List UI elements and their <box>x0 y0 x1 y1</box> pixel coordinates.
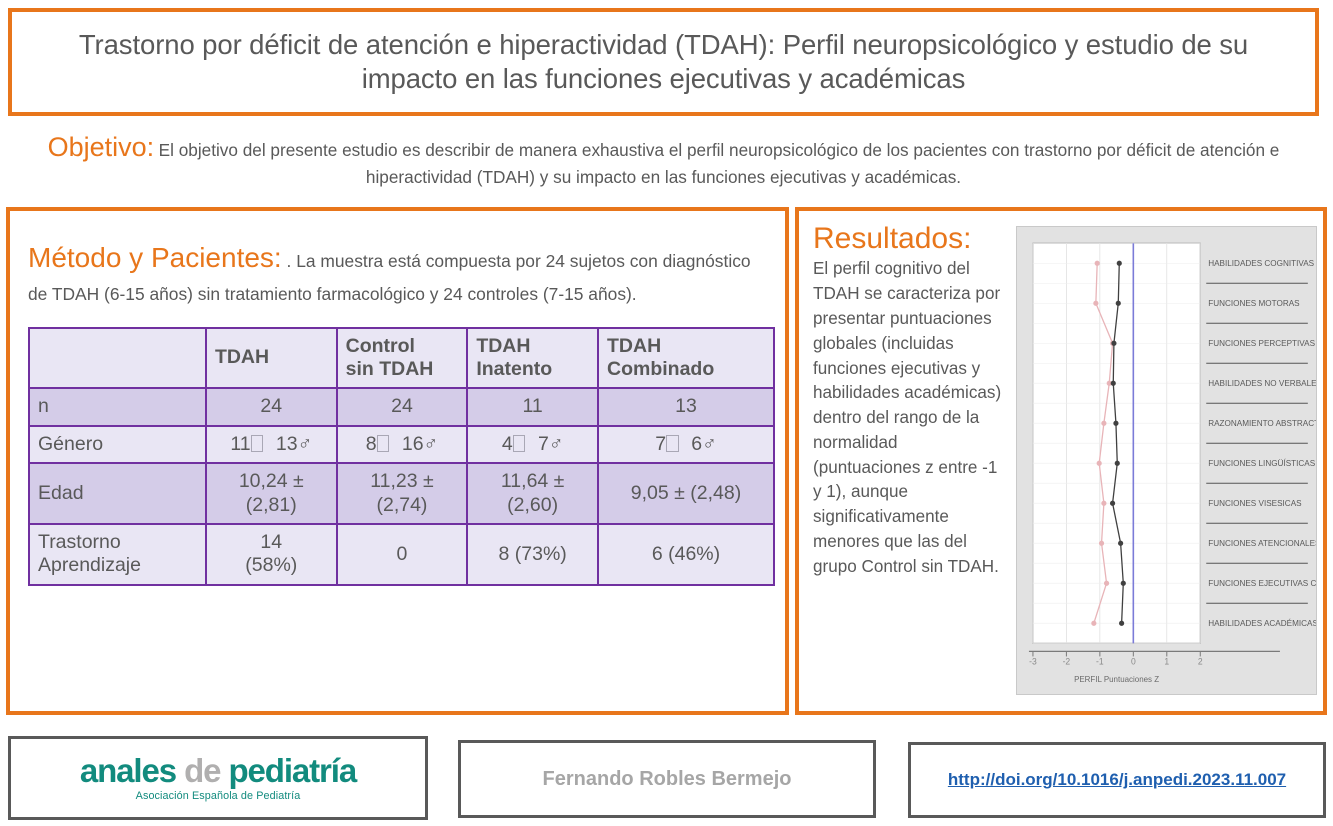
row-value: 11,23 ± (2,74) <box>337 463 468 524</box>
data-point <box>1099 541 1104 546</box>
value-line: 11,23 ± <box>346 470 459 493</box>
label-line: Trastorno <box>38 531 197 554</box>
data-point <box>1119 541 1124 546</box>
metodo-label: Método y Pacientes: <box>28 242 282 273</box>
category-label: HABILIDADES COGNITIVAS GENERALES <box>1208 259 1316 268</box>
table-header-cell-control: Control sin TDAH <box>337 328 468 389</box>
male-symbol-icon: ♂ <box>549 433 564 455</box>
x-axis-tick-label: -1 <box>1096 656 1104 666</box>
female-symbol-icon <box>251 435 263 452</box>
metodo-paragraph: Método y Pacientes: . La muestra está co… <box>28 235 767 309</box>
table-header-cell-tdah: TDAH <box>206 328 337 389</box>
data-point <box>1116 301 1121 306</box>
journal-logo-wordmark: anales de pediatría <box>80 754 356 787</box>
row-value: 11 <box>467 388 598 425</box>
poster-title: Trastorno por déficit de atención e hipe… <box>12 28 1315 95</box>
data-point <box>1120 621 1125 626</box>
category-label: FUNCIONES EJECUTIVAS COGNITIVAS <box>1208 579 1316 588</box>
row-value: 24 <box>206 388 337 425</box>
male-symbol-icon: ♂ <box>298 433 313 455</box>
x-axis-tick-label: 1 <box>1165 656 1170 666</box>
data-point <box>1102 501 1107 506</box>
category-label: HABILIDADES ACADÉMICAS <box>1208 618 1316 628</box>
value-line: 6 (46%) <box>607 543 765 566</box>
value-line: 0 <box>346 543 459 566</box>
data-point <box>1121 581 1126 586</box>
value-line: (58%) <box>215 554 328 577</box>
female-symbol-icon <box>377 435 389 452</box>
header-line: Combinado <box>607 358 765 381</box>
label-line: Aprendizaje <box>38 554 197 577</box>
logo-word-anales: anales <box>80 752 176 789</box>
data-point <box>1111 381 1116 386</box>
objetivo-label: Objetivo: <box>48 132 155 162</box>
table-header-cell-combinado: TDAH Combinado <box>598 328 774 389</box>
row-label: n <box>29 388 206 425</box>
x-axis-tick-label: -3 <box>1029 656 1037 666</box>
table-row: Género 11 13♂ 8 16♂ 4 7♂ 7 6♂ <box>29 426 774 463</box>
patients-table: TDAH Control sin TDAH TDAH Inatento TDAH… <box>28 327 775 586</box>
row-value: 8 (73%) <box>467 524 598 585</box>
data-point <box>1114 421 1119 426</box>
female-count: 7 <box>655 433 666 455</box>
row-value: 6 (46%) <box>598 524 774 585</box>
logo-word-de: de <box>184 752 220 789</box>
category-label: FUNCIONES PERCEPTIVAS <box>1208 339 1315 348</box>
header-line: TDAH <box>607 335 765 358</box>
data-point <box>1102 421 1107 426</box>
category-label: FUNCIONES VISESICAS <box>1208 499 1302 508</box>
header-line: Control <box>346 335 459 358</box>
row-value: 10,24 ± (2,81) <box>206 463 337 524</box>
data-point <box>1094 301 1099 306</box>
data-point <box>1095 261 1100 266</box>
x-axis-tick-label: -2 <box>1063 656 1071 666</box>
logo-word-pediatria: pediatría <box>228 752 356 789</box>
row-value: 13 <box>598 388 774 425</box>
header-line: sin TDAH <box>346 358 459 381</box>
value-line: (2,60) <box>476 494 589 517</box>
row-value: 9,05 ± (2,48) <box>598 463 774 524</box>
table-header-cell-blank <box>29 328 206 389</box>
row-label: Trastorno Aprendizaje <box>29 524 206 585</box>
header-line: Inatento <box>476 358 589 381</box>
category-label: FUNCIONES ATENCIONALES <box>1208 539 1316 548</box>
resultados-text-column: Resultados: El perfil cognitivo del TDAH… <box>799 211 1016 711</box>
category-label: FUNCIONES LINGÜÍSTICAS <box>1208 458 1315 468</box>
data-point <box>1112 341 1117 346</box>
table-header-cell-inatento: TDAH Inatento <box>467 328 598 389</box>
row-label: Edad <box>29 463 206 524</box>
value-line: 14 <box>215 531 328 554</box>
row-value-gender: 11 13♂ <box>206 426 337 463</box>
table-row: Edad 10,24 ± (2,81) 11,23 ± (2,74) 11,64… <box>29 463 774 524</box>
resultados-section: Resultados: El perfil cognitivo del TDAH… <box>795 207 1327 715</box>
data-point <box>1110 501 1115 506</box>
female-count: 8 <box>366 433 377 455</box>
journal-logo: anales de pediatría Asociación Española … <box>80 754 356 802</box>
row-value-gender: 7 6♂ <box>598 426 774 463</box>
author-name: Fernando Robles Bermejo <box>543 768 792 791</box>
male-symbol-icon: ♂ <box>702 433 717 455</box>
table-header-row: TDAH Control sin TDAH TDAH Inatento TDAH… <box>29 328 774 389</box>
female-symbol-icon <box>666 435 678 452</box>
header-line: TDAH <box>215 346 328 369</box>
female-symbol-icon <box>513 435 525 452</box>
x-axis-tick-label: 2 <box>1198 656 1203 666</box>
header-line: TDAH <box>476 335 589 358</box>
female-count: 11 <box>230 433 250 455</box>
row-value-gender: 4 7♂ <box>467 426 598 463</box>
value-line: (2,74) <box>346 494 459 517</box>
doi-link[interactable]: http://doi.org/10.1016/j.anpedi.2023.11.… <box>948 770 1286 790</box>
data-point <box>1092 621 1097 626</box>
male-count: 7 <box>538 433 549 455</box>
data-point <box>1117 261 1122 266</box>
data-point <box>1115 461 1120 466</box>
category-label: HABILIDADES NO VERBALES <box>1208 379 1316 388</box>
row-value: 11,64 ± (2,60) <box>467 463 598 524</box>
table-row: n 24 24 11 13 <box>29 388 774 425</box>
category-label: RAZONAMIENTO ABSTRACTO <box>1208 419 1316 428</box>
row-label: Género <box>29 426 206 463</box>
male-symbol-icon: ♂ <box>424 433 439 455</box>
objetivo-text: El objetivo del presente estudio es desc… <box>159 140 1280 187</box>
resultados-label: Resultados: <box>813 223 1008 255</box>
row-value: 24 <box>337 388 468 425</box>
row-value: 0 <box>337 524 468 585</box>
male-count: 6 <box>691 433 702 455</box>
metodo-section: Método y Pacientes: . La muestra está co… <box>6 207 789 715</box>
profile-chart-panel: -3-2-1012PERFIL Puntuaciones ZHABILIDADE… <box>1016 226 1317 695</box>
row-value: 14 (58%) <box>206 524 337 585</box>
x-axis-label: PERFIL Puntuaciones Z <box>1074 675 1159 684</box>
row-value-gender: 8 16♂ <box>337 426 468 463</box>
poster-title-box: Trastorno por déficit de atención e hipe… <box>8 8 1319 116</box>
value-line: 11,64 ± <box>476 470 589 493</box>
data-point <box>1104 581 1109 586</box>
table-row: Trastorno Aprendizaje 14 (58%) 0 8 (73%)… <box>29 524 774 585</box>
profile-chart: -3-2-1012PERFIL Puntuaciones ZHABILIDADE… <box>1017 227 1316 694</box>
journal-logo-subtitle: Asociación Española de Pediatría <box>80 791 356 802</box>
data-point <box>1097 461 1102 466</box>
value-line: 10,24 ± <box>215 470 328 493</box>
male-count: 16 <box>402 433 424 455</box>
value-line: 9,05 ± (2,48) <box>607 482 765 505</box>
objetivo-section: Objetivo: El objetivo del presente estud… <box>8 132 1319 200</box>
journal-logo-box: anales de pediatría Asociación Española … <box>8 736 428 820</box>
category-label: FUNCIONES MOTORAS <box>1208 299 1300 308</box>
doi-box: http://doi.org/10.1016/j.anpedi.2023.11.… <box>908 742 1326 818</box>
male-count: 13 <box>276 433 298 455</box>
author-box: Fernando Robles Bermejo <box>458 740 876 818</box>
resultados-text: El perfil cognitivo del TDAH se caracter… <box>813 257 1008 579</box>
value-line: (2,81) <box>215 494 328 517</box>
female-count: 4 <box>502 433 513 455</box>
value-line: 8 (73%) <box>476 543 589 566</box>
x-axis-tick-label: 0 <box>1131 656 1136 666</box>
